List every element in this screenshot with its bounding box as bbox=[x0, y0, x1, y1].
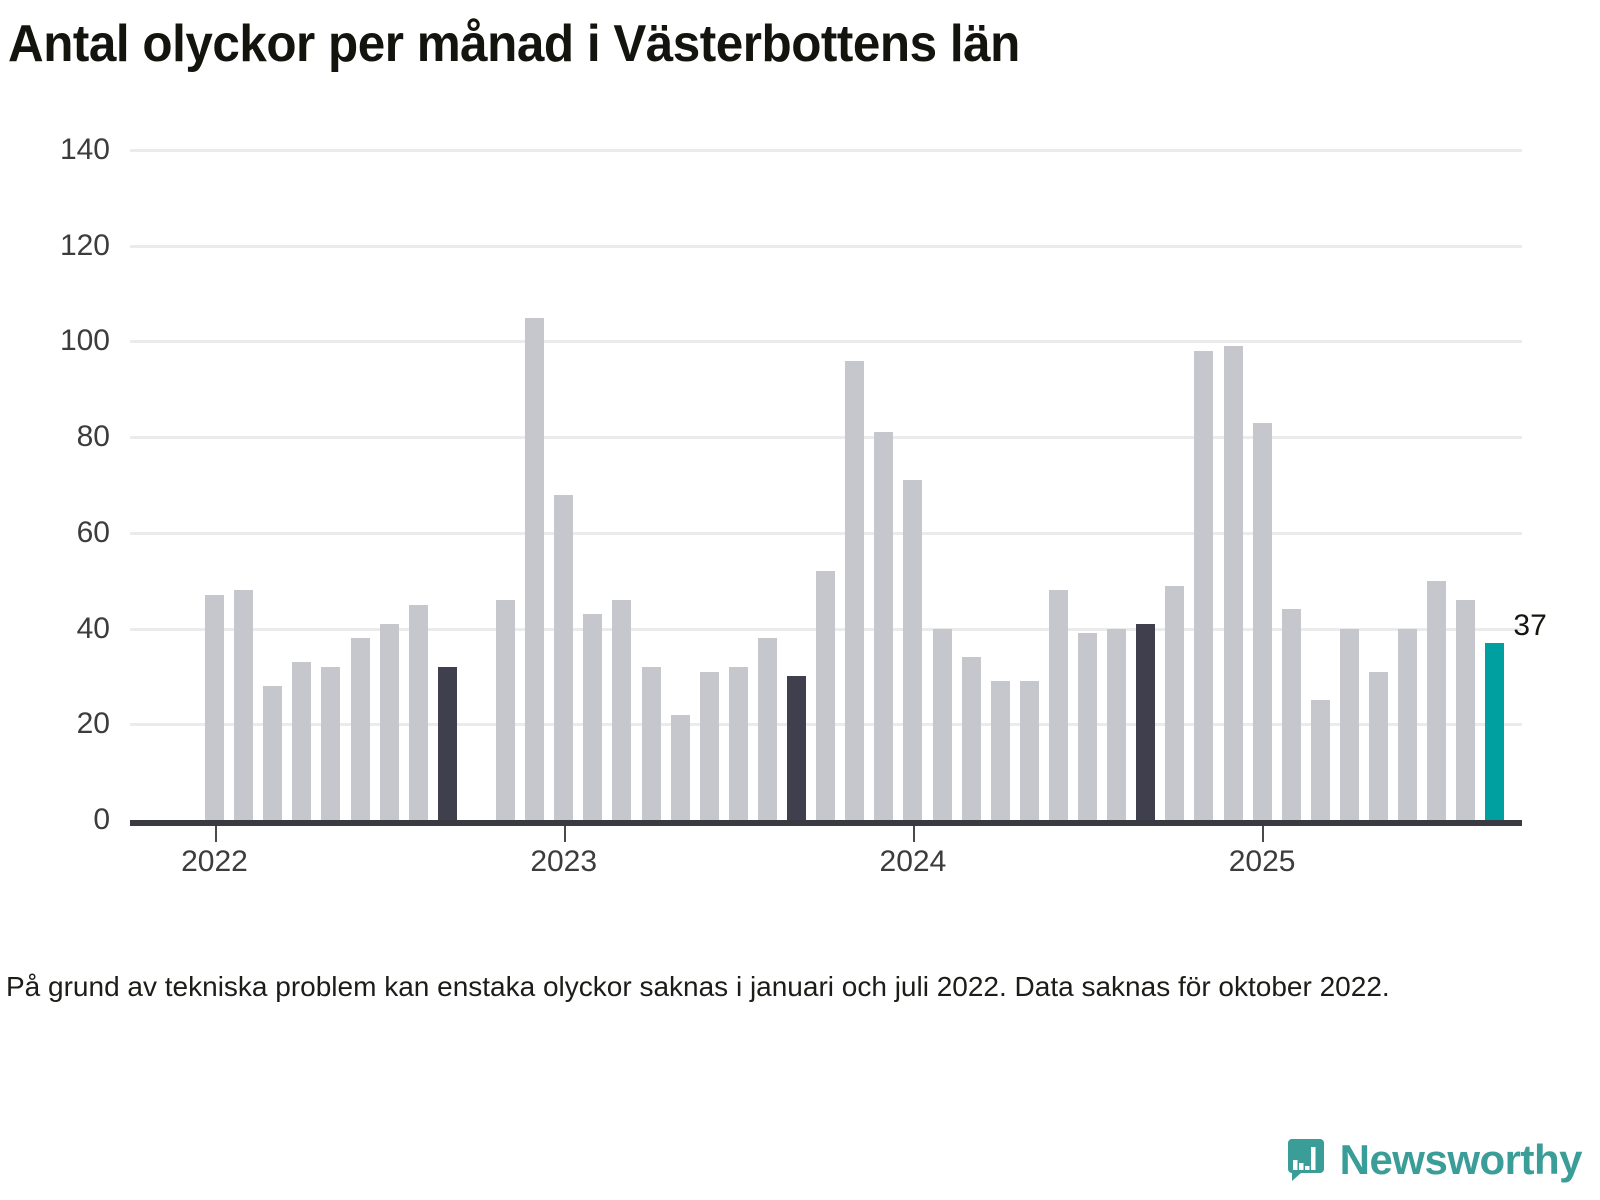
x-axis-tick bbox=[215, 826, 217, 842]
bar-2024-11[interactable] bbox=[1194, 351, 1213, 820]
bar-2022-06[interactable] bbox=[351, 638, 370, 820]
bar-2022-09[interactable] bbox=[438, 667, 457, 820]
bar-2024-12[interactable] bbox=[1224, 346, 1243, 820]
x-axis: 2022202320242025 bbox=[130, 820, 1522, 900]
bar-2022-01[interactable] bbox=[205, 595, 224, 820]
bar-2024-04[interactable] bbox=[991, 681, 1010, 820]
y-axis-tick-label: 100 bbox=[60, 326, 110, 356]
chart-footnote: På grund av tekniska problem kan enstaka… bbox=[6, 968, 1506, 1006]
bar-2022-07[interactable] bbox=[380, 624, 399, 820]
bar-2025-07[interactable] bbox=[1427, 581, 1446, 820]
bar-2022-04[interactable] bbox=[292, 662, 311, 820]
bar-2024-03[interactable] bbox=[962, 657, 981, 820]
y-axis-tick-label: 80 bbox=[77, 422, 110, 452]
y-axis-tick-label: 0 bbox=[93, 805, 110, 835]
x-axis-tick-label: 2025 bbox=[1229, 846, 1296, 878]
bar-2024-09[interactable] bbox=[1136, 624, 1155, 820]
bar-2023-10[interactable] bbox=[816, 571, 835, 820]
bar-2024-01[interactable] bbox=[903, 480, 922, 820]
bar-2025-02[interactable] bbox=[1282, 609, 1301, 820]
bar-2022-03[interactable] bbox=[263, 686, 282, 820]
bar-2023-01[interactable] bbox=[554, 495, 573, 820]
bar-2025-05[interactable] bbox=[1369, 672, 1388, 820]
bar-2023-02[interactable] bbox=[583, 614, 602, 820]
bar-2023-05[interactable] bbox=[671, 715, 690, 820]
bar-2022-05[interactable] bbox=[321, 667, 340, 820]
bar-2023-03[interactable] bbox=[612, 600, 631, 820]
bar-2024-08[interactable] bbox=[1107, 629, 1126, 820]
page-title: Antal olyckor per månad i Västerbottens … bbox=[8, 14, 1020, 74]
x-axis-tick bbox=[564, 826, 566, 842]
bar-2024-07[interactable] bbox=[1078, 633, 1097, 820]
bar-2025-06[interactable] bbox=[1398, 629, 1417, 820]
bar-2025-08[interactable] bbox=[1456, 600, 1475, 820]
bar-2024-02[interactable] bbox=[933, 629, 952, 820]
x-axis-tick bbox=[913, 826, 915, 842]
bar-2023-06[interactable] bbox=[700, 672, 719, 820]
y-axis-tick-label: 60 bbox=[77, 518, 110, 548]
bar-2025-03[interactable] bbox=[1311, 700, 1330, 820]
bar-2022-12[interactable] bbox=[525, 318, 544, 821]
bar-2023-09[interactable] bbox=[787, 676, 806, 820]
bar-2023-11[interactable] bbox=[845, 361, 864, 820]
bar-2022-11[interactable] bbox=[496, 600, 515, 820]
chart-page: Antal olyckor per månad i Västerbottens … bbox=[0, 0, 1600, 1200]
x-axis-tick-label: 2023 bbox=[530, 846, 597, 878]
y-axis-tick-label: 120 bbox=[60, 231, 110, 261]
bar-2024-10[interactable] bbox=[1165, 586, 1184, 821]
bar-2024-05[interactable] bbox=[1020, 681, 1039, 820]
x-axis-tick bbox=[1262, 826, 1264, 842]
bar-value-label: 37 bbox=[1513, 611, 1546, 641]
bar-2025-09[interactable] bbox=[1485, 643, 1504, 820]
bars-container: 37 bbox=[130, 150, 1522, 820]
y-axis-tick-label: 140 bbox=[60, 135, 110, 165]
bar-2023-07[interactable] bbox=[729, 667, 748, 820]
bar-2025-01[interactable] bbox=[1253, 423, 1272, 820]
bar-2023-12[interactable] bbox=[874, 432, 893, 820]
y-axis-labels: 020406080100120140 bbox=[0, 150, 110, 822]
bar-2025-04[interactable] bbox=[1340, 629, 1359, 820]
x-axis-tick-label: 2022 bbox=[181, 846, 248, 878]
bar-2022-08[interactable] bbox=[409, 605, 428, 820]
newsworthy-logo[interactable]: Newsworthy bbox=[1284, 1138, 1582, 1182]
x-axis-tick-label: 2024 bbox=[880, 846, 947, 878]
bar-2023-04[interactable] bbox=[642, 667, 661, 820]
chart-bubble-icon bbox=[1284, 1138, 1328, 1182]
y-axis-tick-label: 20 bbox=[77, 709, 110, 739]
y-axis-tick-label: 40 bbox=[77, 614, 110, 644]
bar-2024-06[interactable] bbox=[1049, 590, 1068, 820]
bar-2023-08[interactable] bbox=[758, 638, 777, 820]
logo-wordmark: Newsworthy bbox=[1340, 1138, 1582, 1182]
bar-2022-02[interactable] bbox=[234, 590, 253, 820]
